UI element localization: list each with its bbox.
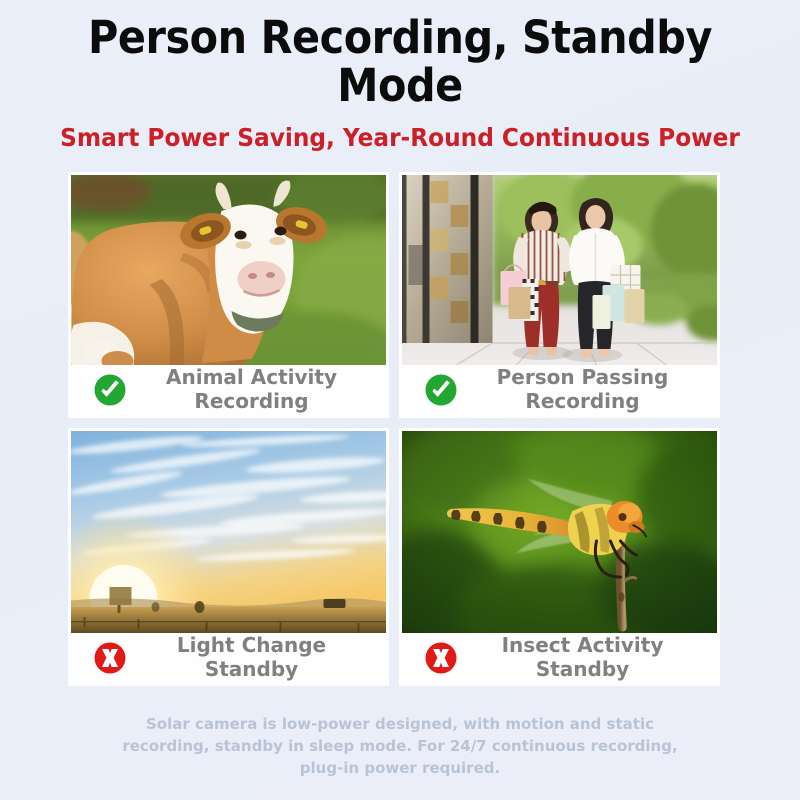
check-icon [424, 373, 458, 407]
caption-line-2: Recording [194, 389, 308, 413]
caption-line-1: Person Passing [497, 365, 669, 389]
caption-line-2: Recording [525, 389, 639, 413]
cross-icon [93, 641, 127, 675]
page-title-line-2: Mode [58, 62, 742, 110]
page-subtitle: Smart Power Saving, Year-Round Continuou… [54, 123, 746, 152]
feature-card-light-change-standby: Light Change Standby [68, 428, 389, 686]
photo-shoppers [402, 175, 717, 365]
photo-sunrise [71, 431, 386, 633]
page-title-line-1: Person Recording, Standby [58, 14, 742, 62]
caption-text: Animal Activity Recording [139, 366, 380, 413]
caption-line-1: Animal Activity [166, 365, 337, 389]
header: Person Recording, Standby Mode Smart Pow… [0, 0, 800, 152]
caption-text: Insect Activity Standby [470, 634, 711, 681]
page-title: Person Recording, Standby Mode [58, 14, 742, 109]
caption-text: Light Change Standby [139, 634, 380, 681]
caption-line-1: Light Change [177, 633, 326, 657]
feature-card-insect-activity-standby: Insect Activity Standby [399, 428, 720, 686]
photo-cow [71, 175, 386, 365]
caption-line-1: Insect Activity [502, 633, 664, 657]
cross-icon [424, 641, 458, 675]
caption-insect-activity-standby: Insect Activity Standby [402, 633, 717, 686]
promo-banner: Person Recording, Standby Mode Smart Pow… [0, 0, 800, 800]
footer-note: Solar camera is low-power designed, with… [110, 714, 690, 779]
feature-card-person-passing-recording: Person Passing Recording [399, 172, 720, 418]
caption-animal-activity-recording: Animal Activity Recording [71, 365, 386, 418]
photo-dragonfly [402, 431, 717, 633]
caption-text: Person Passing Recording [470, 366, 711, 413]
check-icon [93, 373, 127, 407]
caption-line-2: Standby [205, 657, 298, 681]
caption-person-passing-recording: Person Passing Recording [402, 365, 717, 418]
caption-line-2: Standby [536, 657, 629, 681]
caption-light-change-standby: Light Change Standby [71, 633, 386, 686]
feature-card-grid: Animal Activity Recording [68, 172, 720, 686]
feature-card-animal-activity-recording: Animal Activity Recording [68, 172, 389, 418]
